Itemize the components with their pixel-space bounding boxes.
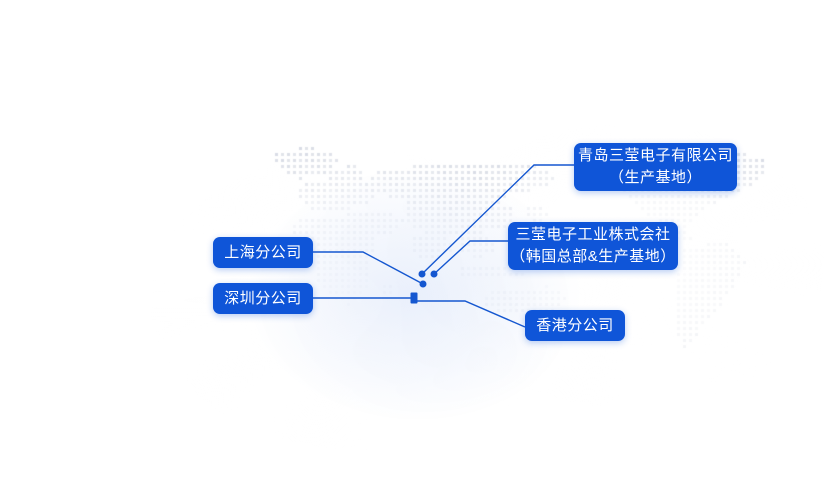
label-shenzhen[interactable]: 深圳分公司: [213, 283, 313, 314]
marker-shenzhen[interactable]: [411, 293, 418, 304]
label-shanghai-line1: 上海分公司: [224, 242, 302, 264]
marker-korea[interactable]: [431, 271, 438, 278]
marker-qingdao[interactable]: [419, 271, 426, 278]
label-qingdao-line1: 青岛三莹电子有限公司: [578, 145, 733, 167]
marker-shanghai[interactable]: [420, 281, 427, 288]
label-hongkong[interactable]: 香港分公司: [525, 310, 625, 341]
label-korea-hq[interactable]: 三莹电子工业株式会社 （韩国总部&生产基地）: [508, 222, 678, 270]
dotted-world-map: [0, 0, 824, 480]
label-hongkong-line1: 香港分公司: [536, 315, 614, 337]
label-qingdao[interactable]: 青岛三莹电子有限公司 （生产基地）: [574, 143, 737, 191]
label-shanghai[interactable]: 上海分公司: [213, 237, 313, 268]
label-korea-line2: （韩国总部&生产基地）: [510, 246, 676, 268]
world-map-infographic: 青岛三莹电子有限公司 （生产基地） 三莹电子工业株式会社 （韩国总部&生产基地）…: [0, 0, 824, 480]
label-shenzhen-line1: 深圳分公司: [224, 288, 302, 310]
label-korea-line1: 三莹电子工业株式会社: [515, 224, 670, 246]
label-qingdao-line2: （生产基地）: [609, 167, 702, 189]
